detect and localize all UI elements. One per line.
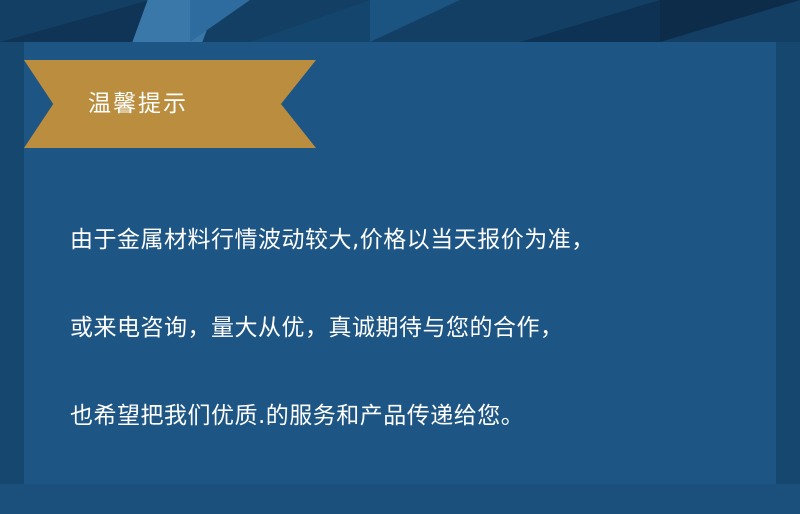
notice-body-line-2: 或来电咨询，量大从优，真诚期待与您的合作，: [70, 284, 736, 372]
notice-body-line-3: 也希望把我们优质.的服务和产品传递给您。: [70, 372, 736, 460]
band-wedge-center-a: [190, 0, 250, 42]
decorative-top-band: [0, 0, 800, 42]
panel-edge-right: [776, 42, 800, 514]
band-wedge-right-b: [660, 0, 800, 42]
panel-edge-left: [0, 42, 24, 514]
band-wedge-left: [0, 0, 150, 42]
ribbon-label: 温馨提示: [88, 90, 288, 118]
band-wedge-right-a: [520, 0, 660, 42]
notice-ribbon: 温馨提示: [24, 60, 316, 148]
panel-bottom-strip: [0, 484, 800, 514]
band-wedge-center-c: [370, 0, 460, 42]
promo-notice-banner: 温馨提示 由于金属材料行情波动较大,价格以当天报价为准， 或来电咨询，量大从优，…: [0, 0, 800, 514]
notice-body-line-1: 由于金属材料行情波动较大,价格以当天报价为准，: [70, 196, 736, 284]
notice-body: 由于金属材料行情波动较大,价格以当天报价为准， 或来电咨询，量大从优，真诚期待与…: [70, 196, 736, 460]
band-wedge-center-b: [250, 0, 370, 42]
